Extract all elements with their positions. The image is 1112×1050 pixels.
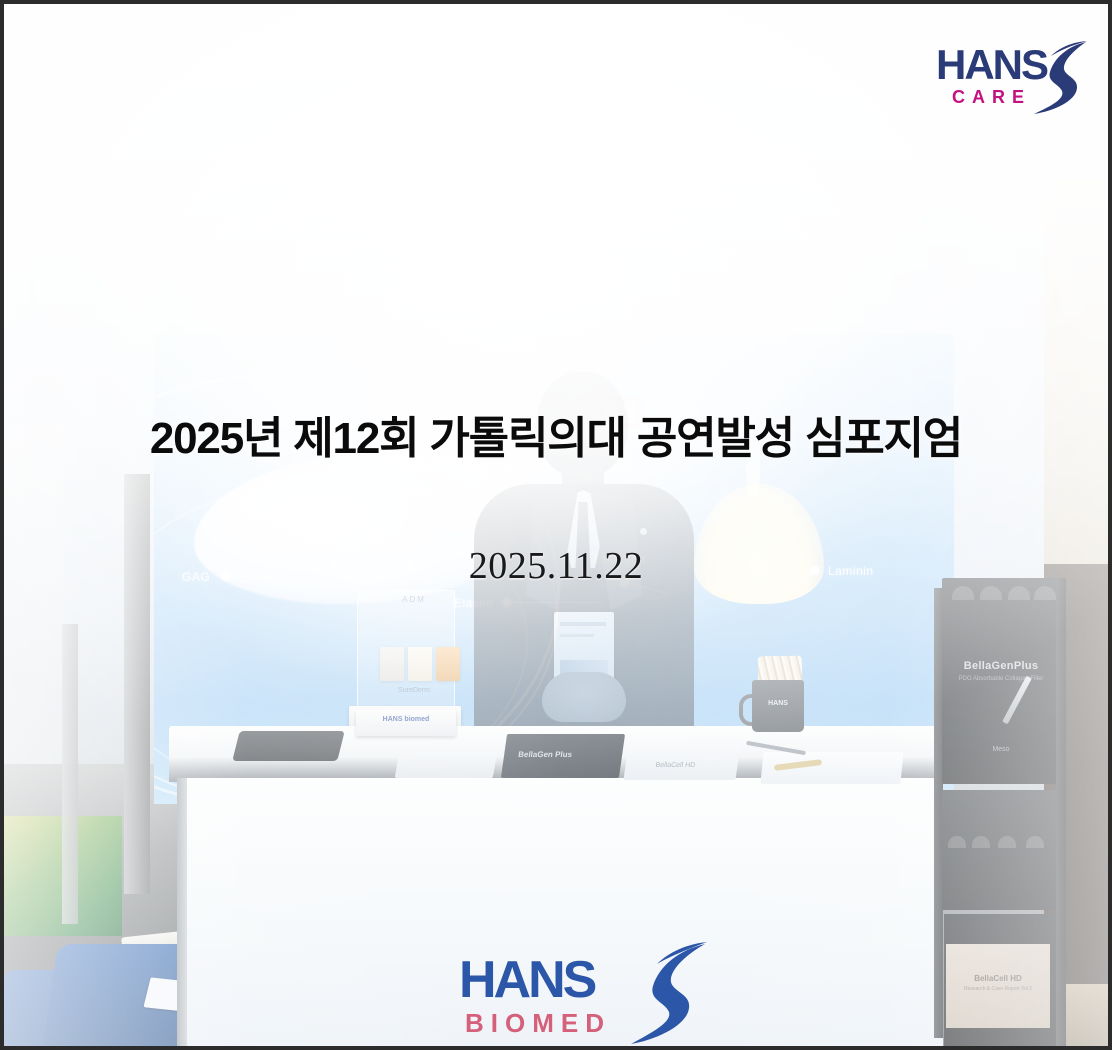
photo-frame: 안전성 GAG ADM Collagen Elastin Laminin [0,0,1112,1050]
rack-product-title: BellaGenPlus [942,660,1060,672]
rack-card-sub: Research & Case Report Vol.2 [946,986,1050,992]
rack-slot [998,836,1016,848]
pen-cup: HANS [752,680,804,732]
rack-slot [952,586,974,600]
badge-line [560,622,606,626]
stand-title: ADM [358,595,470,604]
rack-title-main: BellaGen [964,660,1014,672]
event-photo: 안전성 GAG ADM Collagen Elastin Laminin [4,4,1108,1046]
rack-slot [1034,586,1056,600]
rack-slot [1008,586,1030,600]
brochure-box: HANS biomed [356,710,456,736]
rack-title-accent: Plus [1014,660,1038,672]
rack-card-title: BellaCell HD [946,974,1050,983]
sample-swatch [436,647,460,681]
hans-biomed-subword: BIOMED [465,1010,611,1036]
hans-biomed-swoosh-icon [609,940,709,1046]
lapel-pin-icon [640,528,647,535]
person-hands [542,672,626,722]
rack-leg-right [1056,578,1066,1046]
rack-product-sub: PDO Absorbable Collagen Filler [942,676,1060,682]
rack-product-footer: Meso [942,746,1060,753]
syringe-icon [1002,676,1032,725]
rack-slot [980,586,1002,600]
rack-slot [948,836,966,848]
hans-biomed-logo: HANS BIOMED [459,954,715,1044]
brochure-stack [395,752,498,778]
stand-brand: SureDerm [358,687,470,694]
hans-care-subword: CARE [952,88,1031,106]
booth-post-left-2 [62,624,78,924]
booth-post-left [124,474,150,894]
sample-display-stand: ADM SureDerm HANS biomed [349,590,461,730]
sample-swatch [408,647,432,681]
brochure-box-logo: HANS biomed [356,716,456,723]
hans-biomed-wordmark: HANS [459,954,594,1006]
page-title: 2025년 제12회 가톨릭의대 공연발성 심포지엄 [4,402,1108,466]
badge-line [560,634,594,637]
hans-care-swoosh-icon [1024,40,1088,116]
brochure-bellacell-title: BellaCell HD [655,762,696,769]
hans-care-logo: HANS CARE [936,40,1086,116]
event-date: 2025.11.22 [4,544,1108,588]
tablet-device [232,731,344,761]
pen-cup-logo: HANS [752,700,804,707]
sample-swatch [380,647,404,681]
backdrop-label-adm: ADM [350,524,378,538]
stand-acrylic-panel: ADM SureDerm [357,590,455,710]
rack-panel-mid [942,790,1060,910]
brochure-bellacell: BellaCell HD [623,744,740,780]
product-display-rack: BellaGenPlus PDO Absorbable Collagen Fil… [934,578,1066,1046]
brochure-bellagen-title: BellaGen Plus [518,750,573,759]
rack-slot [972,836,990,848]
rack-slot [1026,836,1044,848]
brochure-bellagen: BellaGen Plus [501,734,625,778]
rack-brochure-bellacell: BellaCell HD Research & Case Report Vol.… [946,944,1050,1028]
rack-panel-top: BellaGenPlus PDO Absorbable Collagen Fil… [942,578,1060,784]
